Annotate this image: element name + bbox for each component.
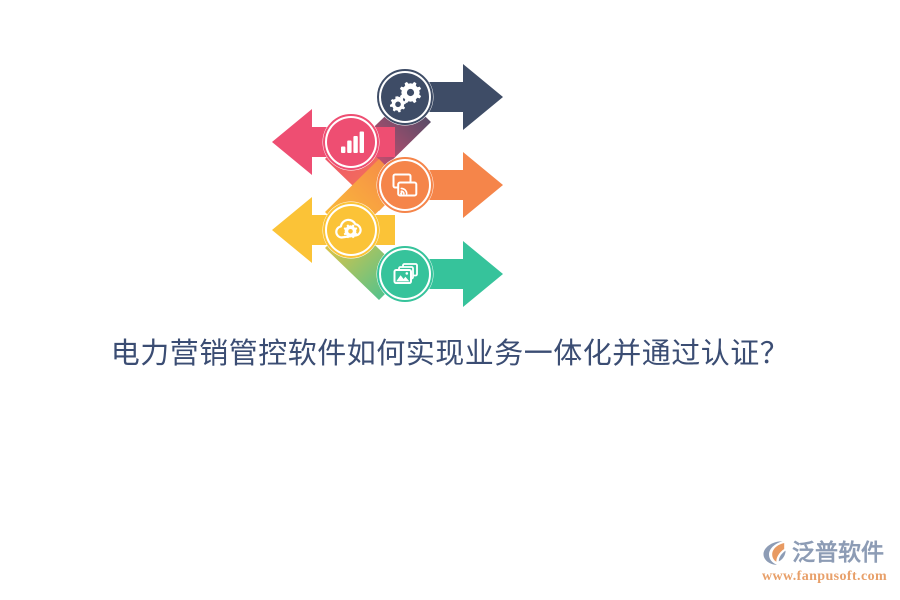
fanpu-logo-icon — [760, 538, 790, 568]
page-root: 电力营销管控软件如何实现业务一体化并通过认证？ 泛普软件 www.fanpuso… — [0, 0, 900, 600]
zigzag-arrow-infographic — [255, 52, 525, 307]
page-title: 电力营销管控软件如何实现业务一体化并通过认证？ — [0, 334, 900, 374]
brand-watermark-row: 泛普软件 — [760, 538, 892, 568]
badge-step-3[interactable] — [377, 157, 434, 214]
infographic-svg — [255, 52, 525, 307]
badge-step-5[interactable] — [377, 246, 434, 303]
brand-name: 泛普软件 — [792, 540, 884, 566]
brand-watermark: 泛普软件 www.fanpusoft.com — [760, 538, 892, 590]
badge-step-2[interactable] — [323, 114, 380, 171]
badge-step-1[interactable] — [377, 69, 434, 126]
brand-url: www.fanpusoft.com — [762, 569, 892, 585]
badge-step-4[interactable] — [323, 202, 380, 259]
